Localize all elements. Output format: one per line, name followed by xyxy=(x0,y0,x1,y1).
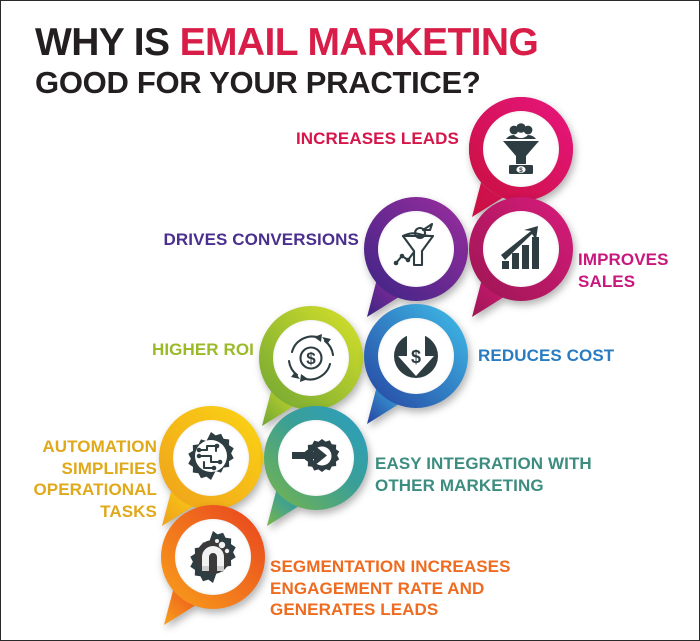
dollar-cycle-arrows-icon: $ xyxy=(284,331,338,385)
label-text: REDUCES COST xyxy=(478,346,614,365)
pin-icon-well xyxy=(378,211,454,287)
funnel-people-money-icon: $ xyxy=(494,122,548,176)
pin-icon-well xyxy=(175,519,251,595)
svg-text:$: $ xyxy=(411,347,421,367)
label-segmentation-increases: SEGMENTATION INCREASES ENGAGEMENT RATE A… xyxy=(270,534,530,621)
dollar-arrow-down-icon: $ xyxy=(389,329,443,383)
gear-circuit-icon xyxy=(184,431,238,485)
pin-easy-integration[interactable] xyxy=(264,406,368,532)
bar-chart-arrow-up-icon xyxy=(495,223,547,275)
label-text: SEGMENTATION INCREASES ENGAGEMENT RATE A… xyxy=(270,557,511,620)
label-text: HIGHER ROI xyxy=(152,340,254,359)
label-easy-integration: EASY INTEGRATION WITH OTHER MARKETING xyxy=(375,431,605,496)
pin-icon-well: $ xyxy=(378,318,454,394)
pin-improves-sales[interactable] xyxy=(469,197,573,323)
magnet-gear-icon xyxy=(186,530,240,584)
label-text: DRIVES CONVERSIONS xyxy=(164,230,359,249)
label-text: INCREASES LEADS xyxy=(296,129,459,148)
label-automation-simplifies: AUTOMATION SIMPLIFIES OPERATIONAL TASKS xyxy=(9,414,157,523)
pin-icon-well: $ xyxy=(483,111,559,187)
pin-icon-well xyxy=(278,420,354,496)
label-text: AUTOMATION SIMPLIFIES OPERATIONAL TASKS xyxy=(33,437,157,521)
title-highlight: EMAIL MARKETING xyxy=(180,21,539,64)
label-higher-roi: HIGHER ROI xyxy=(106,339,254,361)
pin-icon-well xyxy=(483,211,559,287)
pin-reduces-cost[interactable]: $ xyxy=(364,304,468,430)
infographic-canvas: WHY IS EMAIL MARKETING GOOD FOR YOUR PRA… xyxy=(0,0,700,641)
label-text: IMPROVES SALES xyxy=(578,250,669,291)
arrow-into-gear-icon xyxy=(289,431,343,485)
pin-segmentation-increases[interactable] xyxy=(161,505,265,631)
title-prefix: WHY IS xyxy=(35,21,180,64)
label-reduces-cost: REDUCES COST xyxy=(478,345,668,367)
svg-text:$: $ xyxy=(519,167,523,174)
title-line-1: WHY IS EMAIL MARKETING xyxy=(35,23,655,63)
label-increases-leads: INCREASES LEADS xyxy=(231,128,459,150)
title-line-2: GOOD FOR YOUR PRACTICE? xyxy=(35,67,655,100)
label-improves-sales: IMPROVES SALES xyxy=(578,227,698,292)
label-drives-conversions: DRIVES CONVERSIONS xyxy=(121,229,359,251)
pin-icon-well: $ xyxy=(273,320,349,396)
label-text: EASY INTEGRATION WITH OTHER MARKETING xyxy=(375,454,592,495)
funnel-gear-chart-icon xyxy=(389,222,443,276)
page-title: WHY IS EMAIL MARKETING GOOD FOR YOUR PRA… xyxy=(35,23,655,99)
svg-text:$: $ xyxy=(306,349,316,368)
pin-icon-well xyxy=(173,420,249,496)
